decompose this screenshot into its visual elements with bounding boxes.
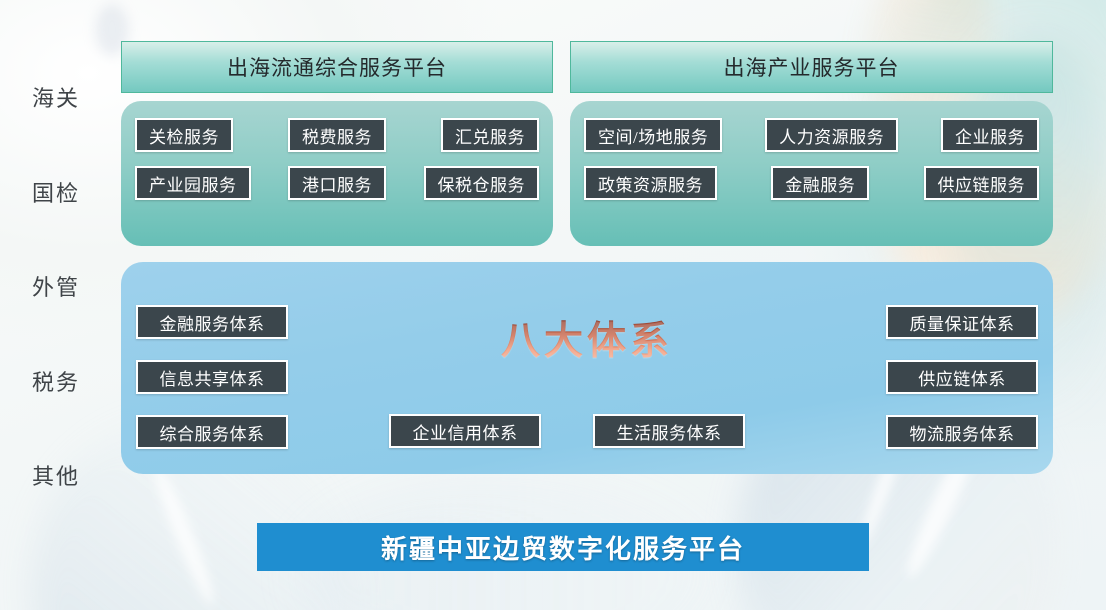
service-chip[interactable]: 金融服务: [771, 166, 869, 200]
eight-systems-panel: 八大体系 金融服务体系 信息共享体系 综合服务体系 企业信用体系 生活服务体系 …: [121, 262, 1053, 474]
platform-header-liutong[interactable]: 出海流通综合服务平台: [121, 41, 553, 93]
side-label-forex: 外管: [32, 277, 80, 299]
side-label-inspection: 国检: [32, 183, 80, 205]
service-chip[interactable]: 供应链服务: [924, 166, 1040, 200]
service-chip[interactable]: 税费服务: [288, 118, 386, 152]
platform-header-chanye-label: 出海产业服务平台: [724, 52, 900, 82]
service-chip[interactable]: 港口服务: [288, 166, 386, 200]
slide-canvas: 海关 国检 外管 税务 其他 出海流通综合服务平台 出海产业服务平台 关检服务 …: [0, 0, 1106, 610]
service-chip[interactable]: 关检服务: [135, 118, 233, 152]
systems-column-center: 企业信用体系 生活服务体系: [389, 414, 745, 448]
side-label-column: 海关 国检 外管 税务 其他: [0, 88, 112, 488]
side-label-other: 其他: [32, 466, 80, 488]
systems-column-left: 金融服务体系 信息共享体系 综合服务体系: [136, 305, 288, 449]
system-chip[interactable]: 信息共享体系: [136, 360, 288, 394]
service-chip[interactable]: 空间/场地服务: [584, 118, 722, 152]
service-chip[interactable]: 企业服务: [941, 118, 1039, 152]
service-chip[interactable]: 保税仓服务: [424, 166, 540, 200]
system-chip[interactable]: 企业信用体系: [389, 414, 541, 448]
systems-column-right: 质量保证体系 供应链体系 物流服务体系: [886, 305, 1038, 449]
background-streak-3: [148, 462, 221, 608]
platform-panel-liutong: 关检服务 税费服务 汇兑服务 产业园服务 港口服务 保税仓服务: [121, 101, 553, 246]
platform-header-liutong-label: 出海流通综合服务平台: [227, 52, 447, 82]
platform-header-chanye[interactable]: 出海产业服务平台: [570, 41, 1053, 93]
service-chip-row: 政策资源服务 金融服务 供应链服务: [584, 166, 1039, 200]
eight-systems-title-text: 八大体系: [501, 320, 673, 363]
service-chip-row: 关检服务 税费服务 汇兑服务: [135, 118, 539, 152]
system-chip[interactable]: 金融服务体系: [136, 305, 288, 339]
service-chip[interactable]: 产业园服务: [135, 166, 251, 200]
system-chip[interactable]: 物流服务体系: [886, 415, 1038, 449]
service-chip[interactable]: 汇兑服务: [441, 118, 539, 152]
service-chip[interactable]: 人力资源服务: [765, 118, 898, 152]
service-chip-row: 产业园服务 港口服务 保税仓服务: [135, 166, 539, 200]
platform-panel-chanye: 空间/场地服务 人力资源服务 企业服务 政策资源服务 金融服务 供应链服务: [570, 101, 1053, 246]
system-chip[interactable]: 供应链体系: [886, 360, 1038, 394]
system-chip[interactable]: 质量保证体系: [886, 305, 1038, 339]
system-chip[interactable]: 综合服务体系: [136, 415, 288, 449]
bottom-banner[interactable]: 新疆中亚边贸数字化服务平台: [257, 523, 869, 571]
service-chip-row: 空间/场地服务 人力资源服务 企业服务: [584, 118, 1039, 152]
side-label-tax: 税务: [32, 372, 80, 394]
system-chip[interactable]: 生活服务体系: [593, 414, 745, 448]
service-chip[interactable]: 政策资源服务: [584, 166, 717, 200]
side-label-customs: 海关: [32, 88, 80, 110]
bottom-banner-label: 新疆中亚边贸数字化服务平台: [381, 529, 745, 566]
